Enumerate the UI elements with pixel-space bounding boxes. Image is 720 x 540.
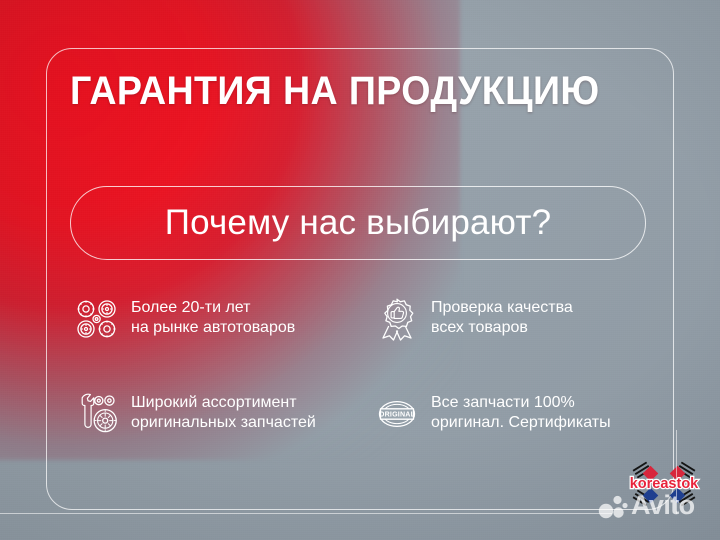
avito-watermark: Avito [598, 492, 695, 519]
feature-text-original: Все запчасти 100% оригинал. Сертификаты [431, 390, 611, 432]
feature-line-1: Проверка качества [431, 298, 573, 318]
feature-text-assortment: Широкий ассортимент оригинальных запчаст… [131, 390, 316, 432]
feature-item-assortment: Широкий ассортимент оригинальных запчаст… [74, 390, 374, 460]
quality-badge-thumbs-up-icon [374, 296, 420, 342]
feature-line-1: Широкий ассортимент [131, 393, 316, 413]
feature-line-2: оригинал. Сертификаты [431, 413, 611, 433]
gears-icon [74, 296, 120, 342]
banner-canvas: ГАРАНТИЯ НА ПРОДУКЦИЮ Почему нас выбираю… [0, 0, 720, 540]
features-grid: Более 20-ти лет на рынке автотоваров Про… [74, 295, 654, 460]
feature-line-2: оригинальных запчастей [131, 413, 316, 433]
page-title: ГАРАНТИЯ НА ПРОДУКЦИЮ [70, 70, 634, 112]
avito-dots-icon [598, 493, 628, 519]
subtitle-pill-label: Почему нас выбирают? [165, 203, 552, 243]
feature-item-quality: Проверка качества всех товаров [374, 295, 654, 390]
feature-line-2: всех товаров [431, 318, 573, 338]
watermark-guide-line-horizontal [0, 513, 612, 514]
feature-line-1: Более 20-ти лет [131, 298, 295, 318]
feature-text-experience: Более 20-ти лет на рынке автотоваров [131, 295, 295, 337]
feature-item-original: ORIGINAL Все запчасти 100% оригинал. Сер… [374, 390, 654, 460]
subtitle-pill: Почему нас выбирают? [70, 186, 646, 260]
svg-text:ORIGINAL: ORIGINAL [379, 411, 416, 419]
feature-line-1: Все запчасти 100% [431, 393, 611, 413]
feature-line-2: на рынке автотоваров [131, 318, 295, 338]
feature-item-experience: Более 20-ти лет на рынке автотоваров [74, 295, 374, 390]
wrench-gear-icon [74, 391, 120, 437]
avito-wordmark: Avito [631, 492, 695, 519]
feature-text-quality: Проверка качества всех товаров [431, 295, 573, 337]
original-stamp-icon: ORIGINAL [374, 391, 420, 437]
